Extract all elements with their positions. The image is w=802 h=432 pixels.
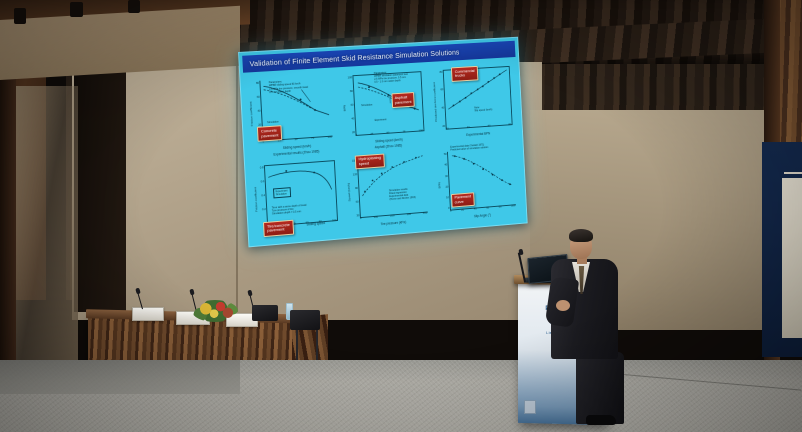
panel6-label: Pavement curve — [451, 192, 475, 208]
chart-panel-asphalt-pavement: BPN 100 80 60 40 20 — [338, 64, 431, 151]
panel2-label: Asphalt pavement — [391, 92, 415, 108]
speaker-hand — [556, 300, 570, 311]
chair-left — [252, 305, 278, 321]
panel6-curves — [448, 147, 515, 193]
panel4-label: Tire/concrete pavement — [263, 220, 294, 237]
xtick: 0 — [450, 209, 452, 214]
xtick: 300 — [407, 212, 412, 217]
xtick: 60 — [486, 206, 489, 211]
xtick: 100 — [511, 204, 515, 209]
xtick: 75 — [311, 136, 314, 141]
xtick: 50 — [386, 131, 389, 136]
podium-badge — [524, 400, 536, 414]
chart-panel-concrete-pavement: Friction coefficient 80 60 40 20 0 — [244, 69, 340, 158]
xtick: 25 — [370, 132, 373, 137]
xtick: 20 — [461, 208, 464, 213]
side-drape — [74, 62, 126, 312]
xtick: 75 — [403, 130, 406, 135]
xtick: 400 — [423, 211, 428, 216]
xtick: 100 — [419, 128, 424, 133]
presentation-slide: Validation of Finite Element Skid Resist… — [238, 37, 528, 248]
xtick: 200 — [390, 214, 395, 219]
speaker-legs — [576, 352, 624, 424]
panel3-label: Commercial trucks — [451, 66, 478, 82]
chart-panel-tire-concrete: Friction coefficient 0.8 0.6 0.4 0.2 0 — [249, 153, 345, 243]
speaker-hair — [569, 229, 593, 242]
chart-panel-commercial-trucks: Predicted tire-force coefficient 80 60 4… — [428, 59, 518, 145]
xtick: 80 — [508, 122, 511, 127]
flower-arrangement — [192, 300, 238, 322]
panel4-legend: Experiment Simulation — [273, 187, 291, 199]
xtick: 100 — [374, 215, 379, 220]
xtick: 0 — [360, 217, 362, 222]
xtick: 40 — [474, 207, 477, 212]
floor-shadow — [0, 360, 240, 394]
chair-right — [290, 310, 320, 330]
xtick: 0 — [356, 133, 358, 138]
xtick: 60 — [488, 124, 491, 129]
ceiling-speaker-2 — [70, 2, 83, 17]
xtick: 100 — [327, 135, 332, 140]
banner-panel — [782, 178, 802, 338]
xtick: 80 — [499, 205, 502, 210]
chart-panel-pavement-curve: BPN 50 40 30 20 10 0 — [433, 140, 523, 227]
ceiling-speaker-3 — [128, 0, 140, 13]
panel3-note: Note: Slip speed (km/h) — [474, 105, 492, 112]
xtick: 20 — [446, 127, 449, 132]
chart-panel-grid: Friction coefficient 80 60 40 20 0 — [244, 59, 523, 243]
panel5-label: Hydroplaning speed — [355, 153, 385, 169]
chart-panel-hydroplaning-speed: Speed (km/h) 150 120 90 60 30 — [342, 147, 435, 235]
beige-pillar — [16, 86, 78, 406]
panel1-label: Concrete pavement — [257, 126, 282, 142]
name-card — [132, 307, 164, 321]
projection-screen: Validation of Finite Element Skid Resist… — [238, 37, 528, 248]
speaker-shoe — [586, 415, 616, 425]
banner-accent-line — [784, 172, 802, 174]
ceiling-speaker-1 — [14, 8, 26, 24]
xtick: 50 — [294, 137, 297, 142]
auditorium-scene: Validation of Finite Element Skid Resist… — [0, 0, 802, 432]
wall-seam — [236, 62, 238, 312]
xtick: 40 — [467, 125, 470, 130]
